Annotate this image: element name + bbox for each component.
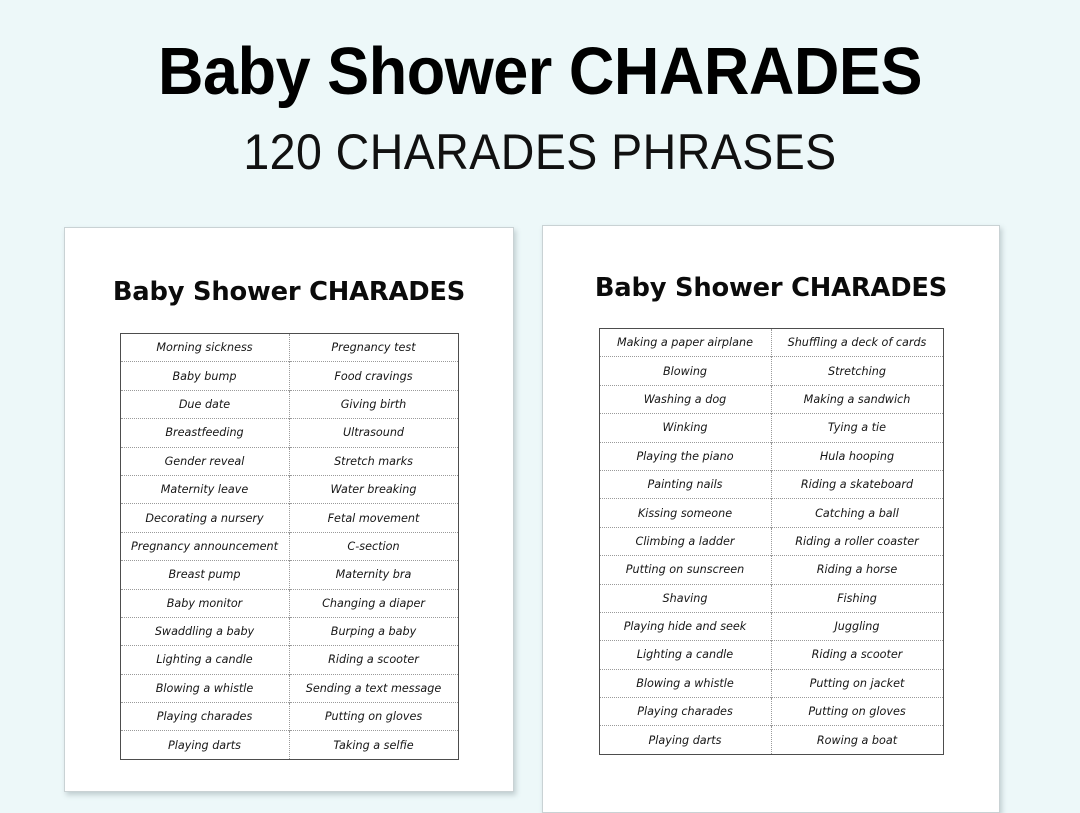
card-1-table-body: Morning sicknessPregnancy testBaby bumpF… bbox=[120, 334, 458, 760]
phrase-cell: Winking bbox=[599, 414, 771, 442]
table-row: Baby bumpFood cravings bbox=[120, 362, 458, 390]
phrase-cell: Giving birth bbox=[289, 390, 458, 418]
table-row: Baby monitorChanging a diaper bbox=[120, 589, 458, 617]
phrase-cell: Playing darts bbox=[120, 731, 289, 759]
phrase-cell: Playing darts bbox=[599, 726, 771, 754]
phrase-cell: Fetal movement bbox=[289, 504, 458, 532]
phrase-cell: Putting on gloves bbox=[289, 703, 458, 731]
phrase-cell: Pregnancy test bbox=[289, 334, 458, 362]
phrase-cell: Baby monitor bbox=[120, 589, 289, 617]
phrase-cell: Climbing a ladder bbox=[599, 527, 771, 555]
phrase-cell: Maternity bra bbox=[289, 561, 458, 589]
phrase-cell: Due date bbox=[120, 390, 289, 418]
phrase-cell: Making a paper airplane bbox=[599, 329, 771, 357]
table-row: BlowingStretching bbox=[599, 357, 943, 385]
phrase-cell: Playing hide and seek bbox=[599, 612, 771, 640]
phrase-cell: Washing a dog bbox=[599, 385, 771, 413]
phrase-cell: Blowing bbox=[599, 357, 771, 385]
phrase-cell: Putting on jacket bbox=[771, 669, 943, 697]
table-row: Playing hide and seekJuggling bbox=[599, 612, 943, 640]
phrase-cell: Catching a ball bbox=[771, 499, 943, 527]
phrase-cell: Taking a selfie bbox=[289, 731, 458, 759]
phrase-cell: Morning sickness bbox=[120, 334, 289, 362]
table-row: Climbing a ladderRiding a roller coaster bbox=[599, 527, 943, 555]
phrase-cell: Riding a roller coaster bbox=[771, 527, 943, 555]
table-row: Maternity leaveWater breaking bbox=[120, 475, 458, 503]
table-row: Lighting a candleRiding a scooter bbox=[599, 641, 943, 669]
phrase-cell: Blowing a whistle bbox=[599, 669, 771, 697]
phrase-cell: Decorating a nursery bbox=[120, 504, 289, 532]
phrase-cell: Shuffling a deck of cards bbox=[771, 329, 943, 357]
table-row: Decorating a nurseryFetal movement bbox=[120, 504, 458, 532]
phrase-cell: Stretch marks bbox=[289, 447, 458, 475]
card-2-phrase-table: Making a paper airplaneShuffling a deck … bbox=[599, 328, 944, 755]
phrase-cell: C-section bbox=[289, 532, 458, 560]
phrase-cell: Riding a horse bbox=[771, 556, 943, 584]
table-row: Due dateGiving birth bbox=[120, 390, 458, 418]
phrase-cell: Hula hooping bbox=[771, 442, 943, 470]
phrase-cell: Kissing someone bbox=[599, 499, 771, 527]
table-row: Swaddling a babyBurping a baby bbox=[120, 617, 458, 645]
phrase-cell: Putting on sunscreen bbox=[599, 556, 771, 584]
table-row: WinkingTying a tie bbox=[599, 414, 943, 442]
charades-card-1: Baby Shower CHARADES Morning sicknessPre… bbox=[64, 227, 514, 792]
table-row: Gender revealStretch marks bbox=[120, 447, 458, 475]
phrase-cell: Putting on gloves bbox=[771, 698, 943, 726]
table-row: Making a paper airplaneShuffling a deck … bbox=[599, 329, 943, 357]
phrase-cell: Burping a baby bbox=[289, 617, 458, 645]
table-row: BreastfeedingUltrasound bbox=[120, 419, 458, 447]
card-2-table-body: Making a paper airplaneShuffling a deck … bbox=[599, 329, 943, 755]
phrase-cell: Painting nails bbox=[599, 470, 771, 498]
phrase-cell: Juggling bbox=[771, 612, 943, 640]
phrase-cell: Water breaking bbox=[289, 475, 458, 503]
phrase-cell: Maternity leave bbox=[120, 475, 289, 503]
phrase-cell: Baby bump bbox=[120, 362, 289, 390]
table-row: Lighting a candleRiding a scooter bbox=[120, 646, 458, 674]
phrase-cell: Blowing a whistle bbox=[120, 674, 289, 702]
table-row: Playing the pianoHula hooping bbox=[599, 442, 943, 470]
phrase-cell: Breastfeeding bbox=[120, 419, 289, 447]
table-row: Blowing a whistlePutting on jacket bbox=[599, 669, 943, 697]
charades-card-2: Baby Shower CHARADES Making a paper airp… bbox=[542, 225, 1000, 813]
phrase-cell: Fishing bbox=[771, 584, 943, 612]
phrase-cell: Sending a text message bbox=[289, 674, 458, 702]
phrase-cell: Breast pump bbox=[120, 561, 289, 589]
phrase-cell: Rowing a boat bbox=[771, 726, 943, 754]
phrase-cell: Riding a skateboard bbox=[771, 470, 943, 498]
phrase-cell: Shaving bbox=[599, 584, 771, 612]
table-row: Breast pumpMaternity bra bbox=[120, 561, 458, 589]
table-row: Blowing a whistleSending a text message bbox=[120, 674, 458, 702]
table-row: Kissing someoneCatching a ball bbox=[599, 499, 943, 527]
phrase-cell: Swaddling a baby bbox=[120, 617, 289, 645]
phrase-cell: Riding a scooter bbox=[289, 646, 458, 674]
phrase-cell: Changing a diaper bbox=[289, 589, 458, 617]
phrase-cell: Making a sandwich bbox=[771, 385, 943, 413]
card-1-phrase-table: Morning sicknessPregnancy testBaby bumpF… bbox=[120, 333, 459, 760]
page-banner: Baby Shower CHARADES 120 CHARADES PHRASE… bbox=[0, 0, 1080, 177]
phrase-cell: Food cravings bbox=[289, 362, 458, 390]
phrase-cell: Lighting a candle bbox=[120, 646, 289, 674]
table-row: Morning sicknessPregnancy test bbox=[120, 334, 458, 362]
card-2-heading: Baby Shower CHARADES bbox=[545, 226, 996, 303]
table-row: Pregnancy announcementC-section bbox=[120, 532, 458, 560]
table-row: Painting nailsRiding a skateboard bbox=[599, 470, 943, 498]
table-row: Washing a dogMaking a sandwich bbox=[599, 385, 943, 413]
phrase-cell: Tying a tie bbox=[771, 414, 943, 442]
table-row: Playing charadesPutting on gloves bbox=[120, 703, 458, 731]
phrase-cell: Ultrasound bbox=[289, 419, 458, 447]
phrase-cell: Playing charades bbox=[120, 703, 289, 731]
phrase-cell: Riding a scooter bbox=[771, 641, 943, 669]
table-row: Playing dartsRowing a boat bbox=[599, 726, 943, 754]
table-row: Playing charadesPutting on gloves bbox=[599, 698, 943, 726]
table-row: Putting on sunscreenRiding a horse bbox=[599, 556, 943, 584]
phrase-cell: Playing the piano bbox=[599, 442, 771, 470]
phrase-cell: Gender reveal bbox=[120, 447, 289, 475]
table-row: ShavingFishing bbox=[599, 584, 943, 612]
page-subtitle: 120 CHARADES PHRASES bbox=[38, 105, 1042, 177]
phrase-cell: Stretching bbox=[771, 357, 943, 385]
phrase-cell: Playing charades bbox=[599, 698, 771, 726]
page-title: Baby Shower CHARADES bbox=[32, 0, 1047, 105]
card-1-heading: Baby Shower CHARADES bbox=[67, 228, 511, 307]
phrase-cell: Pregnancy announcement bbox=[120, 532, 289, 560]
table-row: Playing dartsTaking a selfie bbox=[120, 731, 458, 759]
phrase-cell: Lighting a candle bbox=[599, 641, 771, 669]
